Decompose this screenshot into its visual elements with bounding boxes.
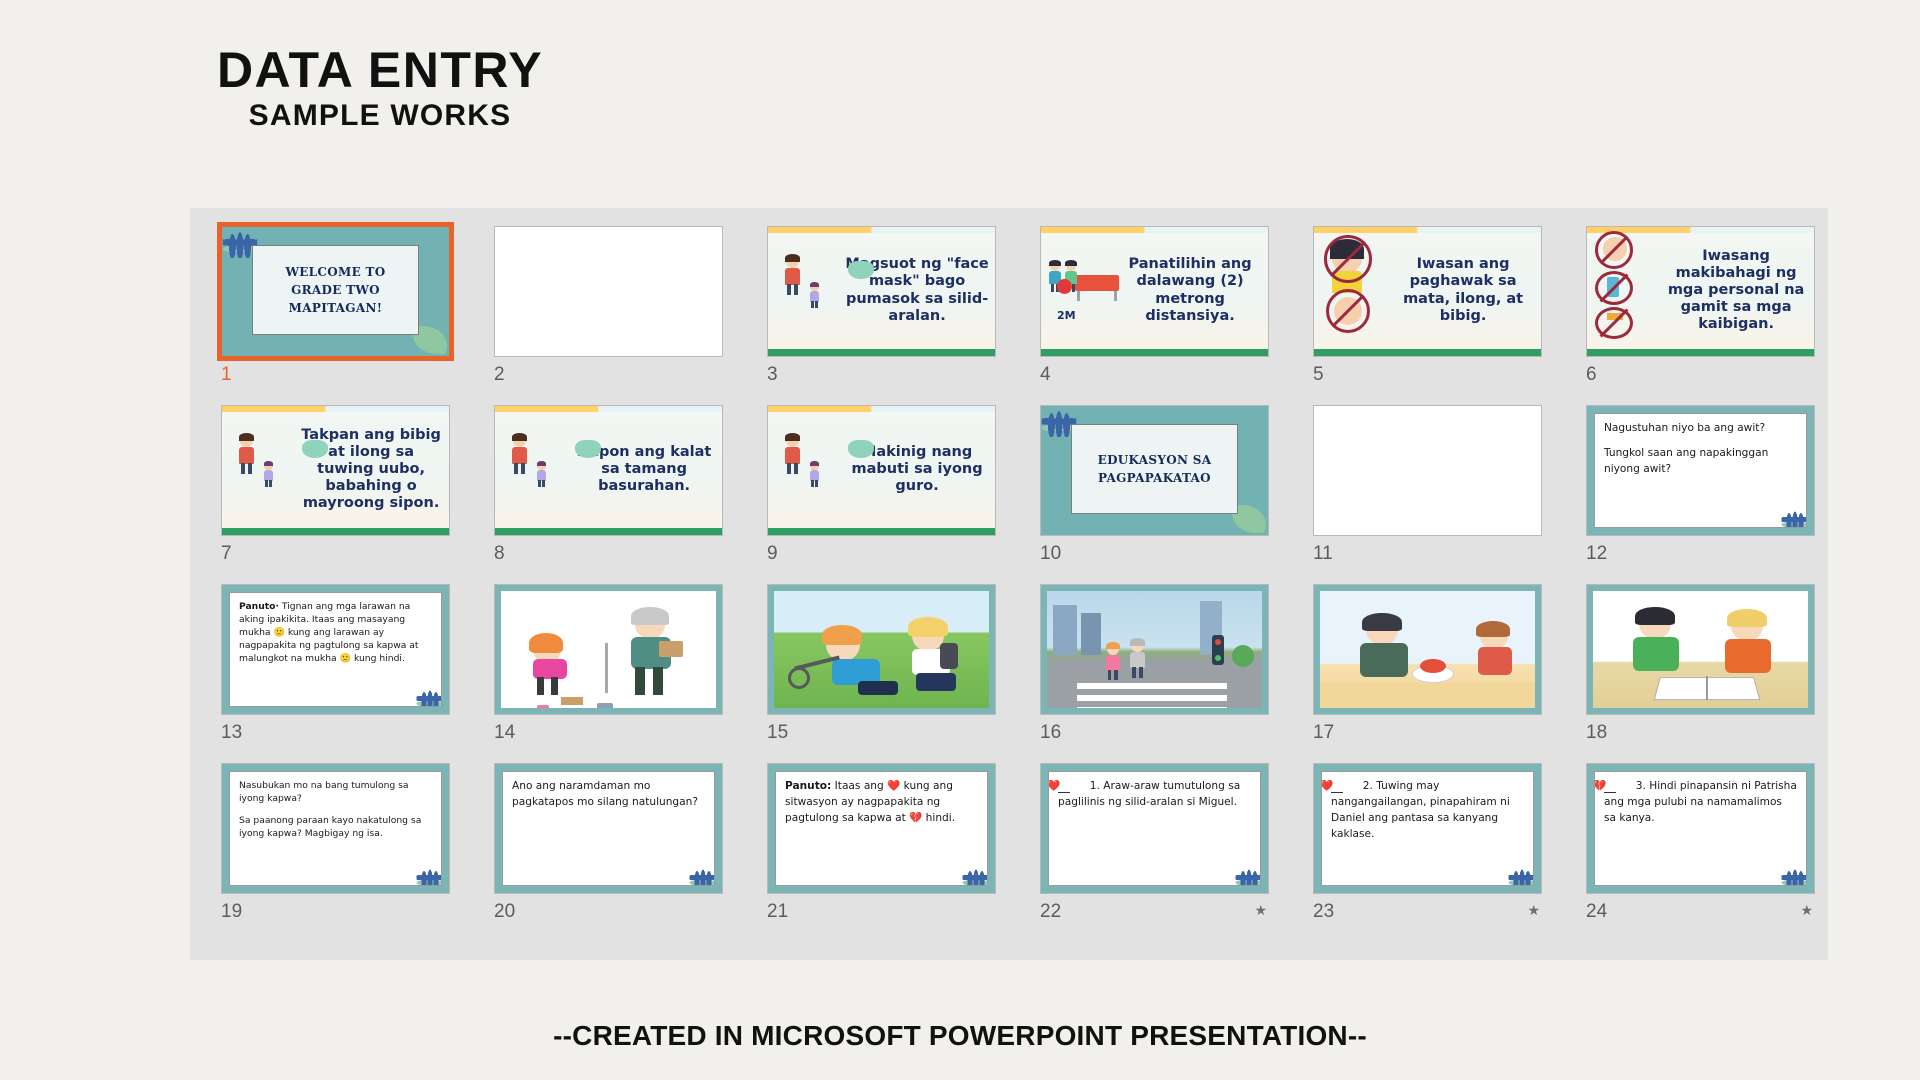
- slide-canvas: Makinig nang mabuti sa iyong guro.: [768, 406, 995, 535]
- person-illustration: [782, 434, 804, 474]
- slide-canvas: ❤️ 1. Araw-araw tumutulong sa paglilinis…: [1041, 764, 1268, 893]
- slide-number: 10: [1040, 543, 1061, 565]
- slide-thumbnail[interactable]: Panuto: Itaas ang ❤️ kung ang sitwasyon …: [767, 763, 996, 894]
- animation-star-icon[interactable]: ★: [1527, 903, 1540, 917]
- no-sharing-icon: [1595, 271, 1633, 305]
- slide-number: 21: [767, 901, 788, 923]
- slide-paragraph: Panuto· Tignan ang mga larawan na aking …: [239, 600, 432, 665]
- slide-paragraph: ❤️ 1. Araw-araw tumutulong sa paglilinis…: [1058, 779, 1251, 811]
- slide-title-box: WELCOME TOGRADE TWOMAPITAGAN!: [252, 245, 420, 335]
- person-illustration: [509, 434, 531, 474]
- slide-rule-text: Iwasang makibahagi ng mga personal na ga…: [1664, 248, 1808, 334]
- slide-cell: Magsuot ng "face mask" bago pumasok sa s…: [751, 220, 1024, 399]
- slide-thumbnail[interactable]: Iwasang makibahagi ng mga personal na ga…: [1586, 226, 1815, 357]
- slide-thumbnail[interactable]: [1313, 584, 1542, 715]
- slide-cell: Nagustuhan niyo ba ang awit?Tungkol saan…: [1570, 399, 1843, 578]
- slide-thumbnail[interactable]: Itapon ang kalat sa tamang basurahan.: [494, 405, 723, 536]
- person-illustration: [1127, 639, 1149, 678]
- slide-canvas: Panuto: Itaas ang ❤️ kung ang sitwasyon …: [768, 764, 995, 893]
- slide-title-line: GRADE TWO: [285, 281, 385, 299]
- slide-cell: Panuto: Itaas ang ❤️ kung ang sitwasyon …: [751, 757, 1024, 936]
- header-block: DATA ENTRY SAMPLE WORKS: [0, 44, 760, 133]
- mask-illustration-icon: [302, 440, 328, 458]
- book-spine: [1706, 676, 1708, 700]
- slide-thumbnail[interactable]: EDUKASYON SAPAGPAPAKATAO: [1040, 405, 1269, 536]
- panuto-label: Panuto·: [239, 601, 279, 612]
- slide-thumbnail[interactable]: [1586, 584, 1815, 715]
- slide-paragraph: Ano ang naramdaman mo pagkatapos mo sila…: [512, 779, 705, 811]
- slide-cell: Iwasang makibahagi ng mga personal na ga…: [1570, 220, 1843, 399]
- slide-canvas: Panuto· Tignan ang mga larawan na aking …: [222, 585, 449, 714]
- slide-thumbnail[interactable]: Nasubukan mo na bang tumulong sa iyong k…: [221, 763, 450, 894]
- traffic-light-green: [1215, 655, 1221, 661]
- dropped-item: [537, 705, 549, 708]
- slide-canvas: Iwasang makibahagi ng mga personal na ga…: [1587, 227, 1814, 356]
- slide-text-card: ❤️ 1. Araw-araw tumutulong sa paglilinis…: [1048, 771, 1261, 886]
- slide-canvas: 2M Panatilihin ang dalawang (2) metrong …: [1041, 227, 1268, 356]
- slide-thumbnail[interactable]: ❤️ 2. Tuwing may nangangailangan, pinapa…: [1313, 763, 1542, 894]
- person-illustration: [535, 462, 549, 487]
- traffic-light-red: [1215, 639, 1221, 645]
- crosswalk-stripe: [1077, 707, 1227, 708]
- table-illustration: [1320, 682, 1535, 708]
- slide-number: 11: [1313, 543, 1333, 565]
- animation-star-icon[interactable]: ★: [1800, 903, 1813, 917]
- bicycle-wheel: [788, 667, 810, 689]
- slide-cell: Panuto· Tignan ang mga larawan na aking …: [205, 578, 478, 757]
- leaf-decoration-icon: [1509, 866, 1535, 886]
- slide-number: 3: [767, 364, 778, 386]
- leaf-decoration-icon: [1782, 866, 1808, 886]
- slide-number: 7: [221, 543, 232, 565]
- slide-thumbnail[interactable]: ❤️ 1. Araw-araw tumutulong sa paglilinis…: [1040, 763, 1269, 894]
- slide-thumbnail[interactable]: [1313, 405, 1542, 536]
- slide-number: 14: [494, 722, 515, 744]
- slide-picture: [1593, 591, 1808, 708]
- slide-text-card: 💔 3. Hindi pinapansin ni Patrisha ang mg…: [1594, 771, 1807, 886]
- slide-thumbnail[interactable]: Iwasan ang paghawak sa mata, ilong, at b…: [1313, 226, 1542, 357]
- no-touch-face-icon: [1324, 235, 1372, 283]
- slide-canvas: Ano ang naramdaman mo pagkatapos mo sila…: [495, 764, 722, 893]
- bench-leg: [1077, 291, 1080, 301]
- crosswalk-stripe: [1077, 683, 1227, 689]
- slide-thumbnail[interactable]: [767, 584, 996, 715]
- slide-text-card: Nagustuhan niyo ba ang awit?Tungkol saan…: [1594, 413, 1807, 528]
- slide-text-card: ❤️ 2. Tuwing may nangangailangan, pinapa…: [1321, 771, 1534, 886]
- slide-thumbnail[interactable]: NEWNORMALCLASSROOMRULES: [494, 226, 723, 357]
- slide-thumbnail[interactable]: Takpan ang bibig at ilong sa tuwing uubo…: [221, 405, 450, 536]
- no-sharing-icon: [1595, 307, 1633, 339]
- slide-text-card: Nasubukan mo na bang tumulong sa iyong k…: [229, 771, 442, 886]
- slide-cell: 14: [478, 578, 751, 757]
- person-illustration: [262, 462, 276, 487]
- slide-picture: [501, 591, 716, 708]
- person-illustration: [808, 283, 822, 308]
- slide-title-line: MAPITAGAN!: [285, 299, 385, 317]
- page-title: DATA ENTRY: [0, 44, 760, 97]
- slide-thumbnail[interactable]: Panuto· Tignan ang mga larawan na aking …: [221, 584, 450, 715]
- slide-number: 6: [1586, 364, 1597, 386]
- slide-thumbnail[interactable]: Magsuot ng "face mask" bago pumasok sa s…: [767, 226, 996, 357]
- slide-cell: EDUKASYON SAPAGPAPAKATAO 10: [1024, 399, 1297, 578]
- slide-cell: 11: [1297, 399, 1570, 578]
- leaf-decoration-icon: [1782, 508, 1808, 528]
- slide-picture: [774, 591, 989, 708]
- slide-cell: ❤️ 2. Tuwing may nangangailangan, pinapa…: [1297, 757, 1570, 936]
- slide-canvas: Nasubukan mo na bang tumulong sa iyong k…: [222, 764, 449, 893]
- slide-canvas: ❤️ 2. Tuwing may nangangailangan, pinapa…: [1314, 764, 1541, 893]
- slide-title-line: EDUKASYON SA: [1098, 451, 1212, 469]
- slide-number: 15: [767, 722, 788, 744]
- helper-child-illustration: [900, 619, 980, 705]
- footer-caption: --CREATED IN MICROSOFT POWERPOINT PRESEN…: [0, 1020, 1920, 1052]
- dropped-item: [561, 697, 583, 705]
- slide-paragraph: Sa paanong paraan kayo nakatulong sa iyo…: [239, 814, 432, 840]
- slide-canvas: EDUKASYON SAPAGPAPAKATAO: [1041, 406, 1268, 535]
- slide-rule-text: Iwasan ang paghawak sa mata, ilong, at b…: [1391, 256, 1535, 324]
- mask-illustration-icon: [848, 261, 874, 279]
- child-illustration: [527, 633, 587, 695]
- slide-number: 16: [1040, 722, 1061, 744]
- slide-cell: NEWNORMALCLASSROOMRULES2: [478, 220, 751, 399]
- slide-cell: Makinig nang mabuti sa iyong guro. 9: [751, 399, 1024, 578]
- slide-canvas: Takpan ang bibig at ilong sa tuwing uubo…: [222, 406, 449, 535]
- no-sharing-icon: [1595, 231, 1633, 269]
- slide-cell: 15: [751, 578, 1024, 757]
- slide-number: 20: [494, 901, 515, 923]
- slide-cell: 2M Panatilihin ang dalawang (2) metrong …: [1024, 220, 1297, 399]
- building-illustration: [1053, 605, 1077, 655]
- slide-cell: 17: [1297, 578, 1570, 757]
- leaf-decoration-icon: [1236, 866, 1262, 886]
- slide-paragraph: Tungkol saan ang napakinggan niyong awit…: [1604, 446, 1797, 478]
- slide-number: 2: [494, 364, 505, 386]
- slide-canvas: [1041, 585, 1268, 714]
- slide-picture: [1047, 591, 1262, 708]
- person-illustration: [808, 462, 822, 487]
- slide-number: 18: [1586, 722, 1607, 744]
- cane-illustration: [605, 643, 608, 693]
- person-illustration: [1103, 643, 1123, 680]
- slide-paragraph: Nagustuhan niyo ba ang awit?: [1604, 421, 1797, 437]
- tree-illustration: [1232, 645, 1254, 667]
- slide-paragraph: Nasubukan mo na bang tumulong sa iyong k…: [239, 779, 432, 805]
- slide-title-text: EDUKASYON SAPAGPAPAKATAO: [1098, 451, 1212, 487]
- child-illustration: [1717, 611, 1787, 685]
- slide-number: 8: [494, 543, 505, 565]
- fallen-child-illustration: [818, 627, 908, 703]
- building-illustration: [1081, 613, 1101, 655]
- slide-paragraph: ❤️ 2. Tuwing may nangangailangan, pinapa…: [1331, 779, 1524, 843]
- slide-canvas: [768, 585, 995, 714]
- slide-canvas: Nagustuhan niyo ba ang awit?Tungkol saan…: [1587, 406, 1814, 535]
- slide-thumbnail[interactable]: Nagustuhan niyo ba ang awit?Tungkol saan…: [1586, 405, 1815, 536]
- panuto-label: Panuto:: [785, 780, 831, 792]
- bench-illustration: [1075, 275, 1119, 291]
- slide-cell: Takpan ang bibig at ilong sa tuwing uubo…: [205, 399, 478, 578]
- slide-number: 5: [1313, 364, 1324, 386]
- slide-number: 4: [1040, 364, 1051, 386]
- heart-icon: ❤️: [1321, 780, 1333, 792]
- slide-number: 9: [767, 543, 778, 565]
- bench-leg: [1114, 291, 1117, 301]
- mask-illustration-icon: [575, 440, 601, 458]
- prohibition-icon: [1057, 279, 1072, 294]
- leaf-decoration-icon: [417, 866, 443, 886]
- child-illustration: [1625, 609, 1695, 683]
- slide-paragraph: 💔 3. Hindi pinapansin ni Patrisha ang mg…: [1604, 779, 1797, 827]
- slide-canvas: Itapon ang kalat sa tamang basurahan.: [495, 406, 722, 535]
- heart-icon: 💔: [1594, 780, 1606, 792]
- leaf-decoration-icon: [690, 866, 716, 886]
- dropped-item: [597, 703, 613, 708]
- slide-canvas: Iwasan ang paghawak sa mata, ilong, at b…: [1314, 227, 1541, 356]
- slide-cell: 16: [1024, 578, 1297, 757]
- slide-canvas: 💔 3. Hindi pinapansin ni Patrisha ang mg…: [1587, 764, 1814, 893]
- slide-thumbnail[interactable]: WELCOME TOGRADE TWOMAPITAGAN!: [217, 222, 454, 361]
- slide-canvas: WELCOME TOGRADE TWOMAPITAGAN!: [222, 227, 449, 356]
- leaf-decoration-icon: [963, 866, 989, 886]
- no-touch-face-icon: [1326, 289, 1370, 333]
- animation-star-icon[interactable]: ★: [1254, 903, 1267, 917]
- slide-canvas: [1587, 585, 1814, 714]
- slide-thumbnail[interactable]: [494, 584, 723, 715]
- slide-number: 12: [1586, 543, 1607, 565]
- slide-title-line: WELCOME TO: [285, 263, 385, 281]
- crosswalk-stripe: [1077, 695, 1227, 701]
- distance-badge: 2M: [1057, 309, 1076, 322]
- slide-number: 22: [1040, 901, 1061, 923]
- page-subtitle: SAMPLE WORKS: [0, 99, 760, 133]
- slide-cell: 💔 3. Hindi pinapansin ni Patrisha ang mg…: [1570, 757, 1843, 936]
- slide-title-text: WELCOME TOGRADE TWOMAPITAGAN!: [285, 263, 385, 317]
- slide-thumbnail[interactable]: Makinig nang mabuti sa iyong guro.: [767, 405, 996, 536]
- leaf-decoration-icon: [417, 687, 443, 707]
- slide-cell: Nasubukan mo na bang tumulong sa iyong k…: [205, 757, 478, 936]
- person-illustration: [236, 434, 258, 474]
- mask-illustration-icon: [848, 440, 874, 458]
- slide-canvas: Magsuot ng "face mask" bago pumasok sa s…: [768, 227, 995, 356]
- person-illustration: [782, 255, 804, 295]
- slide-rule-text: Panatilihin ang dalawang (2) metrong dis…: [1118, 256, 1262, 324]
- slide-thumbnail[interactable]: [1040, 584, 1269, 715]
- slide-cell: ❤️ 1. Araw-araw tumutulong sa paglilinis…: [1024, 757, 1297, 936]
- slide-number: 17: [1313, 722, 1334, 744]
- slide-text-card: Ano ang naramdaman mo pagkatapos mo sila…: [502, 771, 715, 886]
- slide-title-box: EDUKASYON SAPAGPAPAKATAO: [1071, 424, 1239, 514]
- slide-number: 24: [1586, 901, 1607, 923]
- slide-cell: Ano ang naramdaman mo pagkatapos mo sila…: [478, 757, 751, 936]
- slide-thumbnail[interactable]: Ano ang naramdaman mo pagkatapos mo sila…: [494, 763, 723, 894]
- slide-number: 13: [221, 722, 242, 744]
- slide-thumbnail[interactable]: 💔 3. Hindi pinapansin ni Patrisha ang mg…: [1586, 763, 1815, 894]
- slide-number: 23: [1313, 901, 1334, 923]
- food-illustration: [1420, 659, 1446, 673]
- slide-cell: 18: [1570, 578, 1843, 757]
- slide-grid: WELCOME TOGRADE TWOMAPITAGAN! 1 NEWNORMA…: [205, 220, 1843, 936]
- slide-cell: WELCOME TOGRADE TWOMAPITAGAN! 1: [205, 220, 478, 399]
- slide-text-card: Panuto: Itaas ang ❤️ kung ang sitwasyon …: [775, 771, 988, 886]
- slide-number: 1: [221, 364, 232, 386]
- slide-paragraph: Panuto: Itaas ang ❤️ kung ang sitwasyon …: [785, 779, 978, 827]
- slide-number: 19: [221, 901, 242, 923]
- heart-icon: ❤️: [1048, 780, 1060, 792]
- slide-title-line: PAGPAPAKATAO: [1098, 469, 1212, 487]
- slide-text-card: Panuto· Tignan ang mga larawan na aking …: [229, 592, 442, 707]
- slide-canvas: [495, 585, 722, 714]
- slide-cell: Iwasan ang paghawak sa mata, ilong, at b…: [1297, 220, 1570, 399]
- slide-canvas: [1314, 585, 1541, 714]
- slide-picture: [1320, 591, 1535, 708]
- slide-sorter-panel[interactable]: WELCOME TOGRADE TWOMAPITAGAN! 1 NEWNORMA…: [190, 208, 1828, 960]
- slide-thumbnail[interactable]: 2M Panatilihin ang dalawang (2) metrong …: [1040, 226, 1269, 357]
- elder-illustration: [621, 609, 691, 697]
- slide-cell: Itapon ang kalat sa tamang basurahan. 8: [478, 399, 751, 578]
